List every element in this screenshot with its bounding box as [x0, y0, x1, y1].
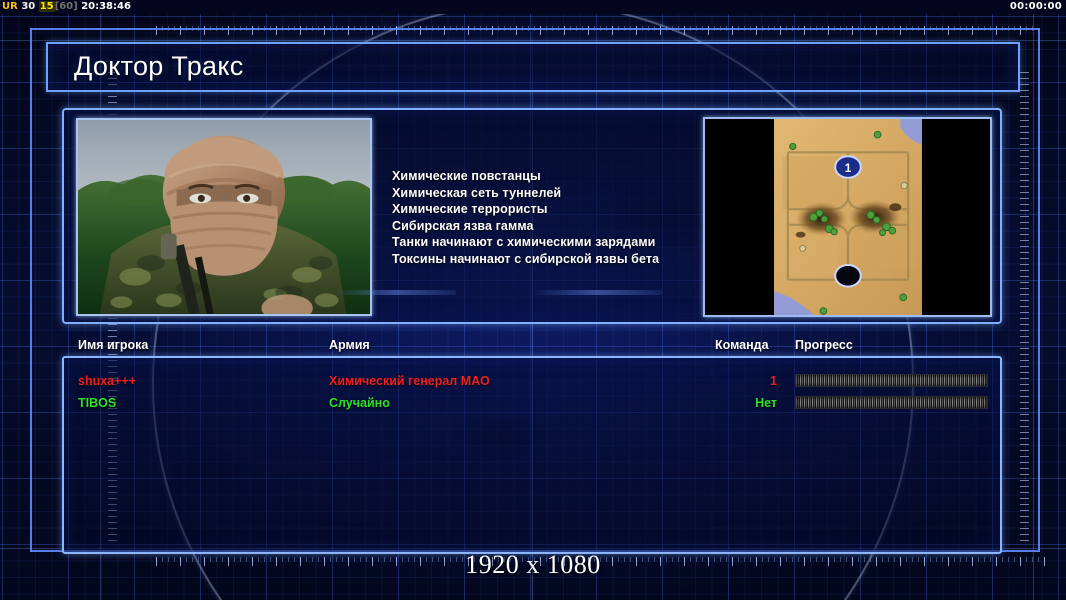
frame-left: [30, 28, 32, 552]
player-army[interactable]: Химический генерал МАО: [329, 370, 490, 392]
title-panel: Доктор Тракс: [46, 42, 1020, 92]
map-start-position-2: [835, 265, 861, 287]
map-preview[interactable]: 1: [703, 117, 992, 317]
player-table-header: Имя игрока Армия Команда Прогресс: [62, 338, 1002, 356]
general-portrait: [76, 118, 372, 316]
general-description: Химические повстанцы Химическая сеть тун…: [392, 168, 722, 267]
description-line-3: Химические террористы: [392, 201, 722, 218]
game-lobby-screen: UR 30 15[60] 20:38:46 00:00:00 Доктор Тр…: [0, 0, 1066, 600]
resolution-overlay: 1920 x 1080: [0, 550, 1066, 580]
table-row[interactable]: shuxa+++ Химический генерал МАО 1: [64, 370, 1000, 392]
decorative-bar-left: [532, 290, 662, 295]
description-line-4: Сибирская язва гамма: [392, 218, 722, 235]
description-line-2: Химическая сеть туннелей: [392, 185, 722, 202]
description-line-1: Химические повстанцы: [392, 168, 722, 185]
header-team: Команда: [715, 338, 769, 352]
player-list-panel: shuxa+++ Химический генерал МАО 1 TIBOS …: [62, 356, 1002, 554]
table-row[interactable]: TIBOS Случайно Нет: [64, 392, 1000, 414]
player-army[interactable]: Случайно: [329, 392, 390, 414]
hairline-top-1: [0, 40, 1066, 41]
player-team[interactable]: 1: [715, 370, 777, 392]
status-left-group: UR 30 15[60] 20:38:46: [2, 0, 131, 14]
player-progress-bar: [795, 374, 988, 387]
player-name: TIBOS: [78, 392, 116, 414]
frame-right: [1038, 28, 1040, 552]
player-progress-bar: [795, 396, 988, 409]
status-ur-label: UR: [2, 1, 18, 12]
description-line-6: Токсины начинают с сибирской язвы бета: [392, 251, 722, 268]
map-start-position-1: 1: [835, 156, 861, 178]
svg-text:1: 1: [845, 162, 852, 175]
map-preview-image: 1: [705, 119, 990, 315]
header-progress: Прогресс: [795, 338, 853, 352]
status-fps-value: 30: [21, 1, 35, 12]
status-max-fps: [60]: [55, 1, 78, 12]
performance-status-bar: UR 30 15[60] 20:38:46 00:00:00: [0, 0, 1066, 14]
header-army: Армия: [329, 338, 370, 352]
player-team[interactable]: Нет: [715, 392, 777, 414]
general-info-panel: Химические повстанцы Химическая сеть тун…: [62, 108, 1002, 324]
frame-top: [30, 28, 1040, 30]
status-timer: 00:00:00: [1010, 0, 1062, 14]
page-title: Доктор Тракс: [74, 51, 244, 82]
portrait-illustration: [78, 120, 370, 314]
status-clock: 20:38:46: [81, 1, 131, 12]
status-current-fps: 15: [39, 1, 55, 12]
header-player-name: Имя игрока: [78, 338, 148, 352]
hairline-right-1: [1033, 14, 1034, 600]
player-name: shuxa+++: [78, 370, 136, 392]
decorative-bar-right: [336, 290, 456, 295]
description-line-5: Танки начинают с химическими зарядами: [392, 234, 722, 251]
